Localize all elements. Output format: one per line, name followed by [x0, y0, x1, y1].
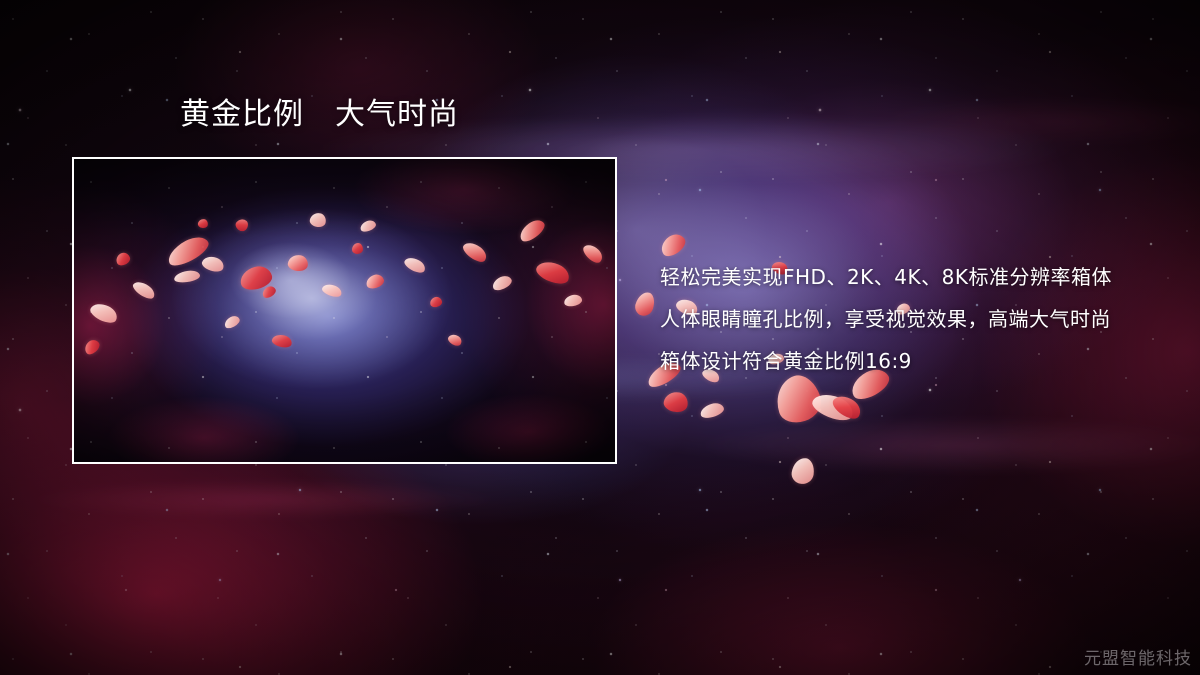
picture-base-nebula — [74, 159, 615, 462]
petal — [164, 232, 212, 270]
petal — [88, 300, 120, 327]
body-text-line-1: 轻松完美实现FHD、2K、4K、8K标准分辨率箱体 — [660, 256, 1170, 298]
petal — [516, 216, 547, 245]
body-text-line-2: 人体眼睛瞳孔比例，享受视觉效果，高端大气时尚 — [660, 298, 1170, 340]
petal — [309, 211, 328, 228]
watermark: 元盟智能科技 — [1084, 644, 1192, 669]
petal — [200, 254, 225, 274]
presentation-slide: 黄金比例 大气时尚 — [0, 0, 1200, 675]
body-text-line-3: 箱体设计符合黄金比例16:9 — [660, 340, 1170, 382]
body-text-block: 轻松完美实现FHD、2K、4K、8K标准分辨率箱体 人体眼睛瞳孔比例，享受视觉效… — [660, 256, 1170, 382]
petal — [460, 239, 489, 266]
petal — [563, 294, 583, 308]
petal — [830, 391, 865, 423]
petal — [82, 337, 102, 356]
petal — [662, 390, 690, 415]
petal — [234, 217, 251, 234]
petal — [633, 290, 657, 318]
petal — [223, 314, 242, 330]
petal — [809, 389, 856, 425]
petal — [359, 219, 377, 234]
petal — [321, 282, 344, 299]
petal — [271, 333, 293, 349]
petal — [260, 284, 277, 300]
petal — [352, 243, 363, 254]
petal — [287, 254, 309, 273]
framed-picture — [72, 157, 617, 464]
picture-vignette — [74, 159, 615, 462]
petal — [364, 273, 385, 291]
petal — [790, 457, 815, 486]
petal — [114, 251, 131, 267]
picture-crimson-clouds — [74, 159, 615, 462]
petal — [238, 263, 274, 292]
petal — [446, 332, 463, 348]
petal — [402, 255, 427, 276]
petal — [173, 269, 200, 284]
petal — [581, 241, 606, 266]
petal — [197, 218, 208, 229]
petal — [131, 278, 158, 301]
petal — [699, 401, 726, 420]
petal — [490, 273, 513, 292]
petal — [534, 257, 573, 287]
petal — [429, 296, 443, 308]
page-title: 黄金比例 大气时尚 — [180, 100, 459, 130]
picture-core-glow — [74, 159, 615, 462]
picture-stars — [74, 159, 615, 462]
